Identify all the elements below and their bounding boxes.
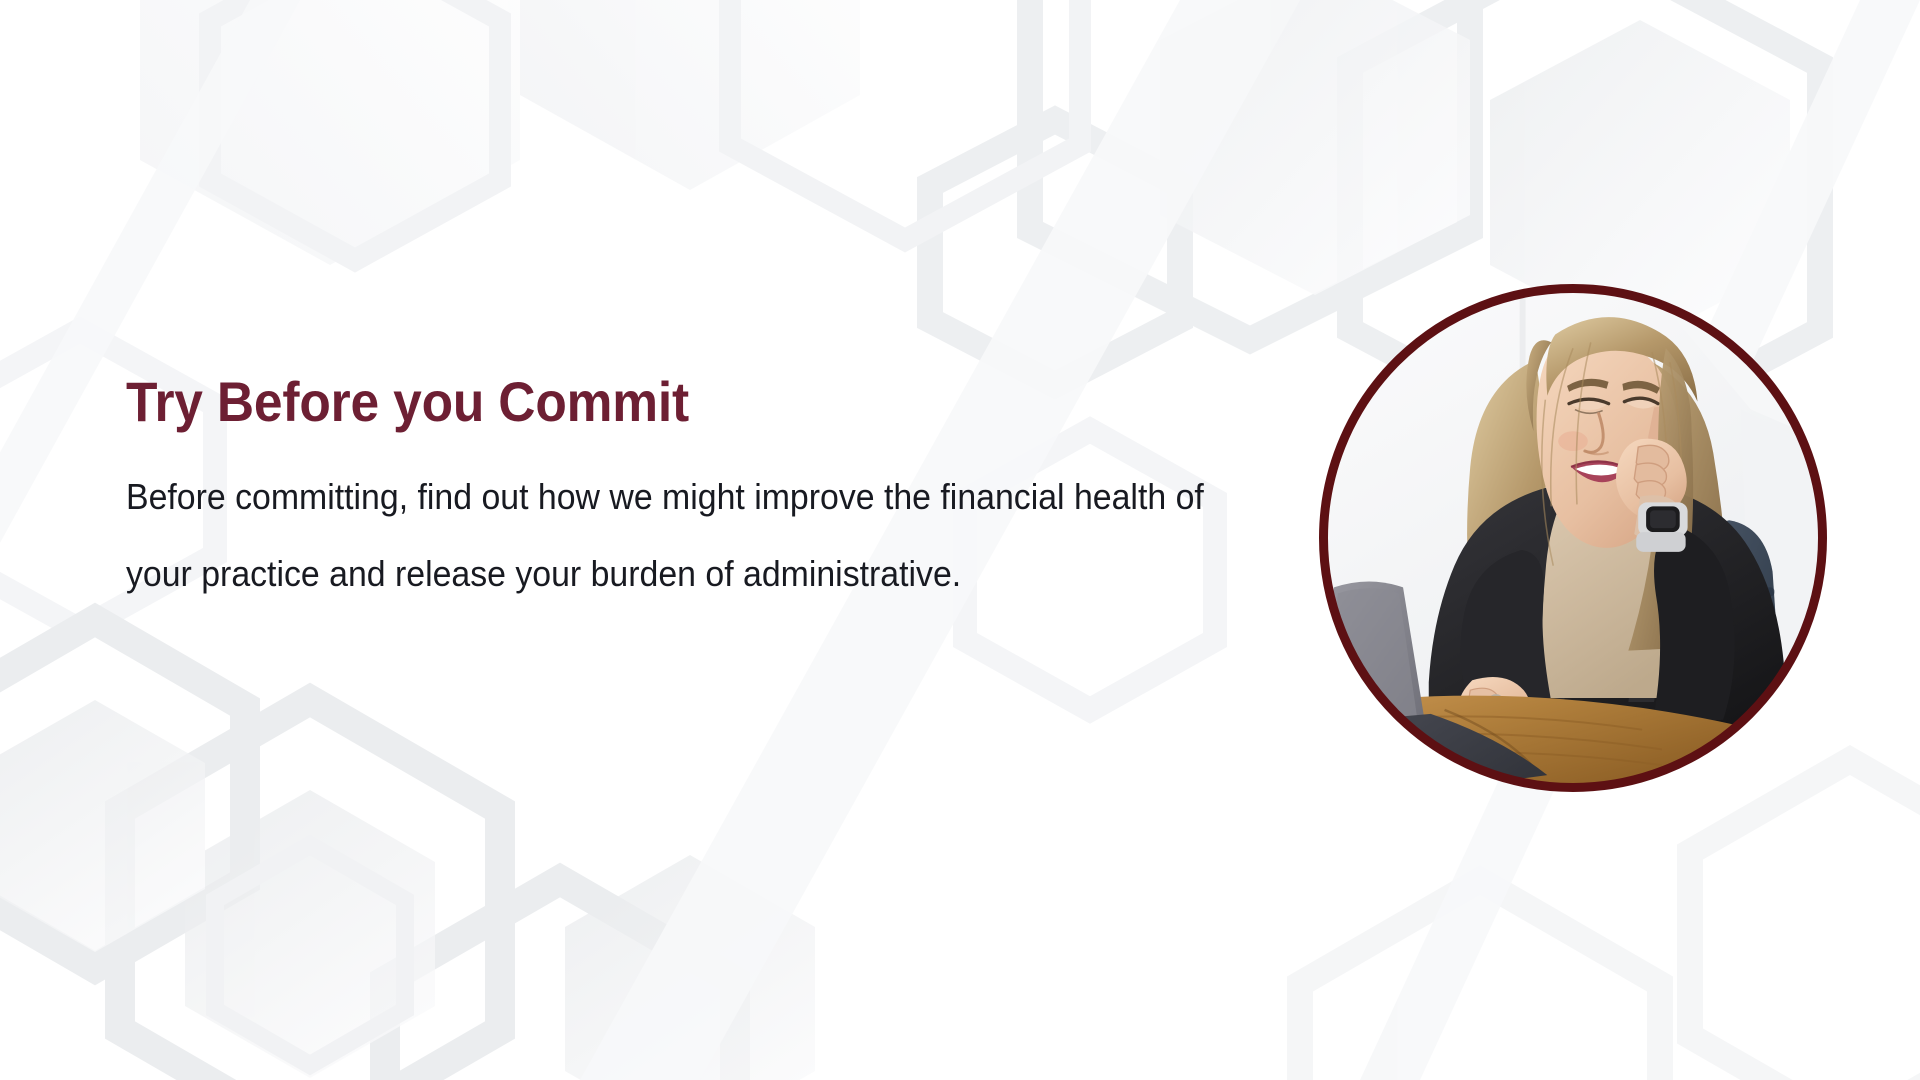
hero-text-block: Try Before you Commit Before committing,… (126, 372, 1296, 612)
hero-description: Before committing, find out how we might… (126, 458, 1221, 612)
portrait-image-clip (1326, 291, 1820, 785)
businesswoman-laptop-photo (1326, 291, 1820, 785)
hero-banner: Try Before you Commit Before committing,… (0, 0, 1920, 1080)
page-title: Try Before you Commit (126, 372, 1202, 432)
portrait-circle (1319, 284, 1827, 792)
